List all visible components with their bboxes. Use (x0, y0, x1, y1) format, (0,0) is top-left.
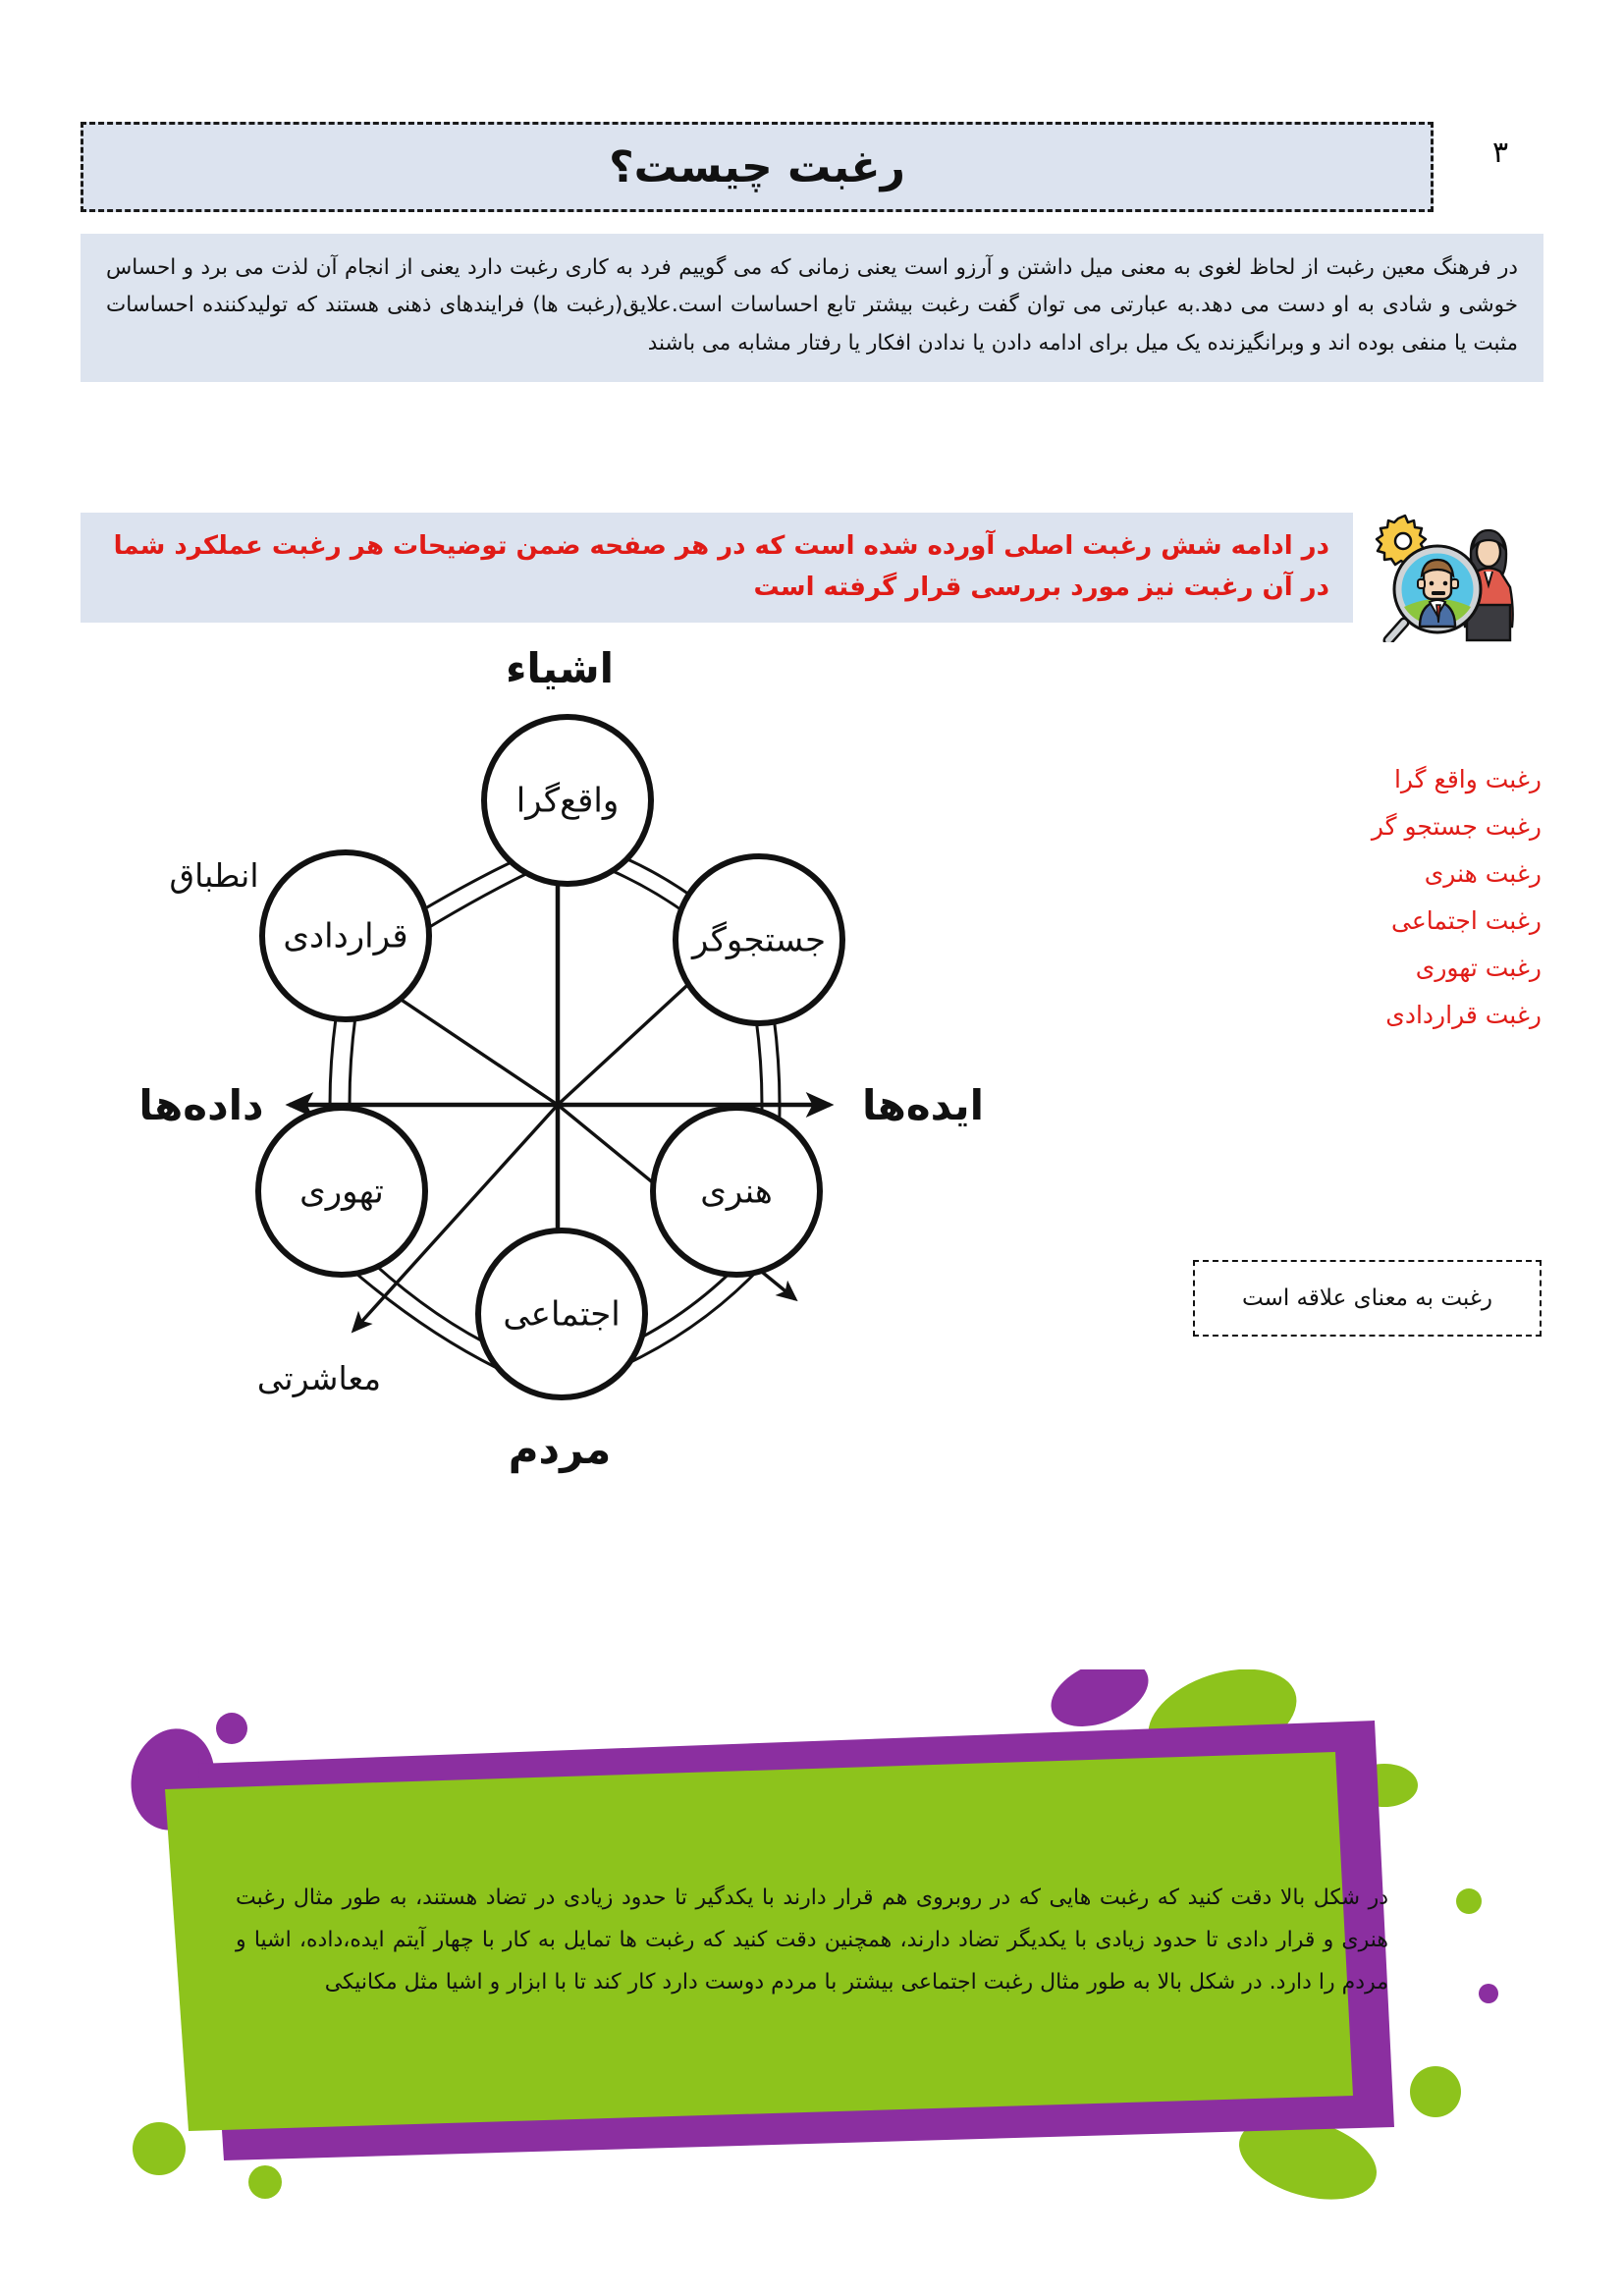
node-label-enterprising: تهوری (299, 1173, 384, 1212)
node-label-artistic: هنری (700, 1173, 773, 1212)
node-label-conventional: قراردادی (283, 917, 407, 957)
axis-label-conform: انطباق (169, 856, 258, 895)
list-item: رغبت هنری (1218, 850, 1542, 898)
intro-paragraph-text: در فرهنگ معین رغبت از لحاظ لغوی به معنی … (106, 249, 1518, 362)
intro-paragraph-block: در فرهنگ معین رغبت از لحاظ لغوی به معنی … (81, 234, 1543, 382)
node-label-investigative: جستجوگر (690, 921, 826, 960)
list-item: رغبت واقع گرا (1218, 756, 1542, 803)
list-item: رغبت قراردادی (1218, 992, 1542, 1039)
page-title-box: رغبت چیست؟ (81, 122, 1434, 212)
notice-text: در ادامه شش رغبت اصلی آورده شده است که د… (100, 525, 1329, 608)
interest-types-list: رغبت واقع گرا رغبت جستجو گر رغبت هنری رغ… (1218, 756, 1542, 1039)
definition-text: رغبت به معنای علاقه است (1242, 1285, 1492, 1311)
definition-callout-box: رغبت به معنای علاقه است (1193, 1260, 1542, 1337)
axis-label-people: مردم (509, 1425, 611, 1474)
summary-banner: در شکل بالا دقت کنید که رغبت هایی که در … (108, 1669, 1506, 2219)
page-number: ۳ (1461, 136, 1540, 170)
axis-label-objects: اشیاء (506, 644, 614, 692)
list-item: رغبت اجتماعی (1218, 898, 1542, 945)
node-label-realistic: واقع‌گرا (516, 782, 620, 821)
notice-row: در ادامه شش رغبت اصلی آورده شده است که د… (81, 503, 1540, 640)
talent-search-clipart-icon (1361, 503, 1538, 642)
notice-box: در ادامه شش رغبت اصلی آورده شده است که د… (81, 513, 1353, 623)
node-label-social: اجتماعی (503, 1295, 620, 1335)
axis-label-ideas: ایده‌ها (862, 1081, 984, 1129)
holland-hexagon-diagram: واقع‌گرا جستجوگر هنری اجتماعی تهوری قرار… (108, 643, 1011, 1699)
list-item: رغبت جستجو گر (1218, 803, 1542, 850)
list-item: رغبت تهوری (1218, 945, 1542, 992)
axis-label-data: داده‌ها (138, 1081, 263, 1129)
page-title: رغبت چیست؟ (609, 142, 905, 192)
axis-label-sociable: معاشرتی (257, 1359, 381, 1397)
document-page: ۳ رغبت چیست؟ در فرهنگ معین رغبت از لحاظ … (0, 0, 1624, 2296)
page-header: ۳ رغبت چیست؟ (81, 122, 1540, 212)
banner-text: در شکل بالا دقت کنید که رغبت هایی که در … (236, 1878, 1388, 2004)
